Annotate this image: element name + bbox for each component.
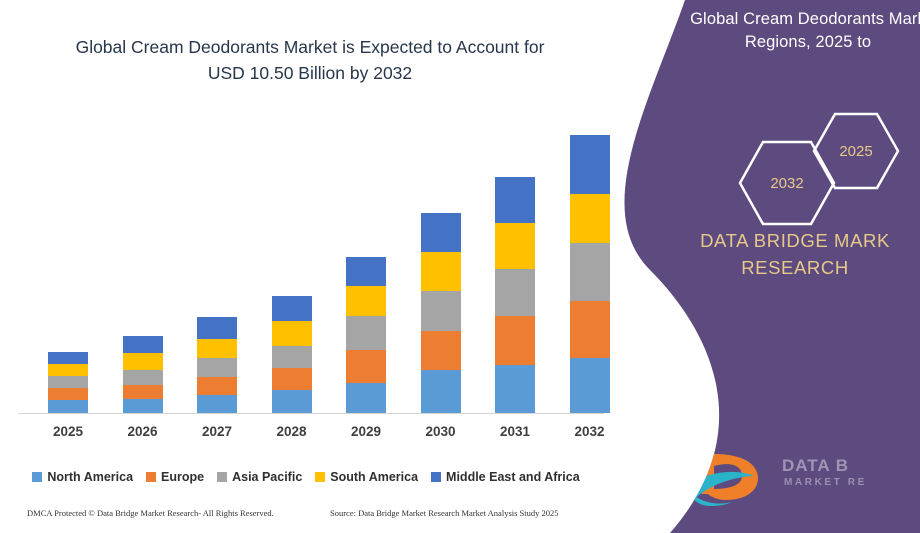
bar-segment[interactable] <box>123 336 163 354</box>
bar-segment[interactable] <box>197 358 237 377</box>
bar-segment[interactable] <box>48 352 88 364</box>
legend-label: South America <box>330 470 418 484</box>
hexagon-badges: 2032 2025 <box>738 112 920 222</box>
bar-segment[interactable] <box>197 395 237 413</box>
bar-segment[interactable] <box>495 269 535 316</box>
bar-segment[interactable] <box>346 350 386 383</box>
x-axis-tick-label: 2027 <box>187 424 247 439</box>
stacked-bar-chart <box>18 120 604 414</box>
bar-segment[interactable] <box>197 377 237 395</box>
legend-swatch-icon <box>315 472 325 482</box>
bar-group[interactable] <box>48 352 88 413</box>
x-axis-tick-label: 2029 <box>336 424 396 439</box>
legend-label: Asia Pacific <box>232 470 302 484</box>
footer-copyright: DMCA Protected © Data Bridge Market Rese… <box>27 508 274 518</box>
x-axis-tick-label: 2028 <box>262 424 322 439</box>
bar-segment[interactable] <box>495 223 535 269</box>
x-axis-tick-label: 2032 <box>560 424 620 439</box>
page-title: Global Cream Deodorants Market is Expect… <box>30 34 590 87</box>
bar-segment[interactable] <box>197 317 237 339</box>
dbmr-logo-text-sub: MARKET RE <box>784 477 867 488</box>
bar-group[interactable] <box>421 213 461 413</box>
legend-swatch-icon <box>217 472 227 482</box>
legend-item[interactable]: Middle East and Africa <box>431 470 580 484</box>
bar-group[interactable] <box>123 336 163 413</box>
hexagon-badge-2025-label: 2025 <box>839 143 872 160</box>
legend-label: North America <box>47 470 133 484</box>
bar-segment[interactable] <box>570 301 610 359</box>
bar-segment[interactable] <box>421 213 461 252</box>
bar-segment[interactable] <box>48 364 88 376</box>
bar-segment[interactable] <box>570 194 610 244</box>
bar-segment[interactable] <box>123 385 163 399</box>
chart-legend: North AmericaEuropeAsia PacificSouth Ame… <box>0 470 612 484</box>
bar-segment[interactable] <box>495 177 535 224</box>
bar-segment[interactable] <box>421 252 461 291</box>
axis-baseline <box>18 413 604 414</box>
brand-name: DATA BRIDGE MARK RESEARCH <box>630 228 920 282</box>
bar-segment[interactable] <box>272 346 312 369</box>
legend-item[interactable]: Europe <box>146 470 204 484</box>
bar-group[interactable] <box>346 257 386 413</box>
legend-swatch-icon <box>146 472 156 482</box>
x-axis-labels: 20252026202720282029203020312032 <box>18 424 604 448</box>
bar-segment[interactable] <box>123 353 163 370</box>
bar-group[interactable] <box>197 317 237 413</box>
legend-item[interactable]: Asia Pacific <box>217 470 302 484</box>
bar-segment[interactable] <box>272 390 312 413</box>
legend-label: Europe <box>161 470 204 484</box>
bar-group[interactable] <box>495 177 535 413</box>
bar-segment[interactable] <box>421 331 461 371</box>
bar-segment[interactable] <box>346 316 386 351</box>
bar-segment[interactable] <box>346 257 386 286</box>
bar-segment[interactable] <box>570 135 610 194</box>
bar-segment[interactable] <box>272 368 312 390</box>
bar-segment[interactable] <box>197 339 237 359</box>
bar-segment[interactable] <box>495 316 535 366</box>
hexagon-badge-2025: 2025 <box>812 112 900 190</box>
bar-segment[interactable] <box>272 296 312 321</box>
bar-group[interactable] <box>272 296 312 413</box>
bar-segment[interactable] <box>570 243 610 301</box>
footer-source: Source: Data Bridge Market Research Mark… <box>330 508 559 518</box>
x-axis-tick-label: 2026 <box>113 424 173 439</box>
hexagon-badge-2032-label: 2032 <box>770 175 803 192</box>
bar-segment[interactable] <box>123 370 163 385</box>
bar-segment[interactable] <box>48 388 88 400</box>
bar-segment[interactable] <box>123 399 163 413</box>
bar-segment[interactable] <box>346 383 386 413</box>
bar-segment[interactable] <box>272 321 312 346</box>
x-axis-tick-label: 2025 <box>38 424 98 439</box>
legend-swatch-icon <box>32 472 42 482</box>
dbmr-logo-icon <box>680 432 790 512</box>
bar-segment[interactable] <box>495 365 535 413</box>
legend-label: Middle East and Africa <box>446 470 580 484</box>
bar-segment[interactable] <box>48 376 88 388</box>
bar-segment[interactable] <box>48 400 88 413</box>
legend-item[interactable]: North America <box>32 470 133 484</box>
bar-segment[interactable] <box>570 358 610 413</box>
bar-segment[interactable] <box>421 370 461 413</box>
dbmr-logo: DATA B MARKET RE <box>680 432 920 527</box>
legend-swatch-icon <box>431 472 441 482</box>
legend-item[interactable]: South America <box>315 470 418 484</box>
dbmr-logo-text-main: DATA B <box>782 456 849 476</box>
bar-segment[interactable] <box>346 286 386 316</box>
bar-segment[interactable] <box>421 291 461 331</box>
footer: DMCA Protected © Data Bridge Market Rese… <box>0 508 612 528</box>
infographic-page: Global Cream Deodorants Market is Expect… <box>0 0 920 533</box>
x-axis-tick-label: 2030 <box>411 424 471 439</box>
panel-title: Global Cream Deodorants Mark Regions, 20… <box>638 8 920 55</box>
brand-panel: Global Cream Deodorants Mark Regions, 20… <box>590 0 920 533</box>
x-axis-tick-label: 2031 <box>485 424 545 439</box>
bar-group[interactable] <box>570 135 610 413</box>
